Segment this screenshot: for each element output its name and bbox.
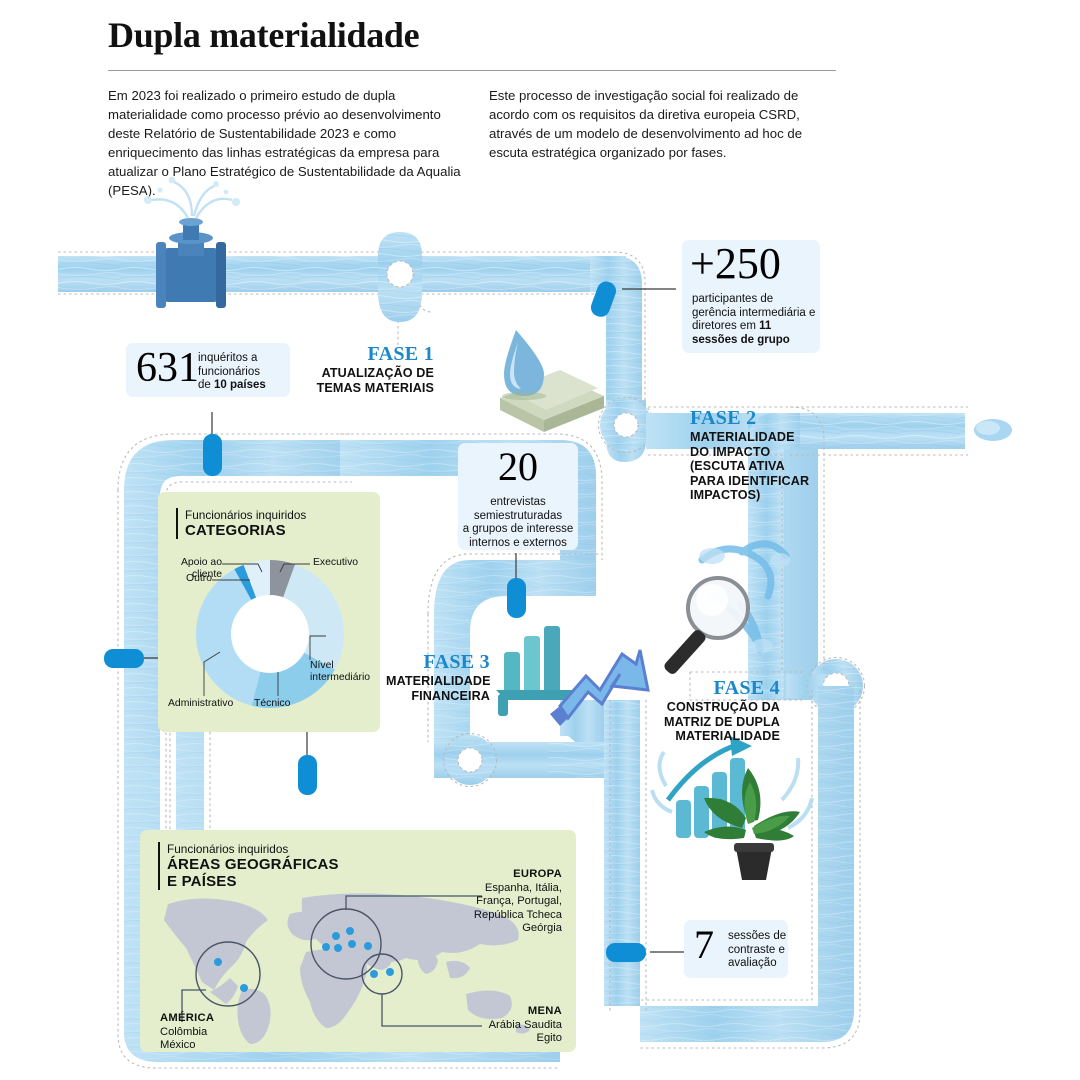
interviews-line-2: semiestruturadas: [460, 510, 576, 524]
region-europa: EUROPA Espanha, Itália, França, Portugal…: [416, 868, 562, 936]
donut-label-outro: Outro: [158, 573, 212, 585]
pipe-valve-icon: [144, 177, 240, 308]
phase-3-subtitle: MATERIALIDADE FINANCEIRA: [386, 674, 490, 703]
region-europa-name: EUROPA: [416, 868, 562, 882]
phase-1-subtitle: ATUALIZAÇÃO DE TEMAS MATERIAIS: [300, 366, 434, 395]
stat-number-20: 20: [458, 449, 578, 486]
stat-number-7: 7: [694, 927, 714, 964]
region-america-countries: Colômbia México: [160, 1026, 280, 1053]
infographic-page: Dupla materialidade Em 2023 foi realizad…: [0, 0, 1080, 1080]
interviews-line-4: internos e externos: [460, 537, 576, 551]
phase-label-2: FASE 2 MATERIALIDADE DO IMPACTO (ESCUTA …: [690, 408, 820, 503]
participants-line-3-bold: 11: [759, 320, 771, 332]
water-drop-icon: [500, 330, 604, 432]
region-mena-countries: Arábia Saudita Egito: [416, 1019, 562, 1046]
stat-number-250: +250: [690, 244, 781, 284]
phase-3-title: FASE 3: [386, 652, 490, 673]
phase-label-1: FASE 1 ATUALIZAÇÃO DE TEMAS MATERIAIS: [300, 344, 434, 395]
stat-line-3-bold: 10 países: [214, 379, 266, 391]
donut-label-executivo: Executivo: [313, 557, 379, 569]
region-america: AMÉRICA Colômbia México: [160, 1012, 280, 1053]
stat-line-3-pre: de: [198, 379, 214, 391]
region-mena: MENA Arábia Saudita Egito: [416, 1005, 562, 1046]
stat-line-1: inquéritos a: [198, 352, 290, 366]
stat-card-participants: +250 participantes de gerência intermedi…: [682, 240, 820, 353]
stat-card-sessions: 7 sessões de contraste e avaliação: [684, 920, 788, 978]
connector-clip-geo: [298, 755, 317, 795]
donut-label-nivel-intermediario: Nível intermediário: [310, 660, 366, 683]
region-america-name: AMÉRICA: [160, 1012, 280, 1026]
sessions-line-3: avaliação: [728, 957, 790, 971]
pipe-elbow-top-right: [590, 256, 642, 412]
connector-clip-631: [203, 434, 222, 476]
phase-label-4: FASE 4 CONSTRUÇÃO DA MATRIZ DE DUPLA MAT…: [650, 678, 780, 744]
sessions-line-1: sessões de: [728, 930, 790, 944]
phase-2-title: FASE 2: [690, 408, 820, 429]
growth-plant-icon: [652, 736, 812, 880]
phase-4-title: FASE 4: [650, 678, 780, 699]
connector-clip-20: [507, 578, 526, 618]
stat-line-2: funcionários: [198, 366, 290, 380]
phase-1-title: FASE 1: [300, 344, 434, 365]
pipe-junction-fase1: [378, 232, 422, 322]
connector-clip-categories: [104, 649, 144, 668]
region-mena-name: MENA: [416, 1005, 562, 1019]
donut-leader-lines: [158, 492, 380, 732]
stat-card-surveys: 631 inquéritos a funcionários de 10 país…: [126, 343, 290, 397]
participants-line-2: gerência intermediária e: [692, 307, 818, 321]
participants-line-3-pre: diretores em: [692, 320, 759, 332]
region-europa-countries: Espanha, Itália, França, Portugal, Repúb…: [416, 882, 562, 936]
stat-number-631: 631: [136, 349, 199, 388]
geography-title-1: ÁREAS GEOGRÁFICAS: [167, 856, 339, 873]
connector-clip-7: [606, 943, 646, 962]
donut-label-administrativo: Administrativo: [168, 698, 248, 710]
pipe-top-main: [58, 256, 626, 292]
phase-label-3: FASE 3 MATERIALIDADE FINANCEIRA: [386, 652, 490, 703]
participants-line-1: participantes de: [692, 293, 818, 307]
geography-heading: Funcionários inquiridos ÁREAS GEOGRÁFICA…: [158, 842, 339, 890]
interviews-line-3: a grupos de interesse: [460, 523, 576, 537]
donut-label-tecnico: Técnico: [254, 698, 310, 710]
geography-eyebrow: Funcionários inquiridos: [167, 842, 339, 856]
water-droplet-icon: [974, 419, 1012, 441]
sessions-line-2: contraste e: [728, 944, 790, 958]
interviews-line-1: entrevistas: [460, 496, 576, 510]
geography-panel: Funcionários inquiridos ÁREAS GEOGRÁFICA…: [140, 830, 576, 1052]
categories-panel: Funcionários inquiridos CATEGORIAS Apoio…: [158, 492, 380, 732]
phase-2-subtitle: MATERIALIDADE DO IMPACTO (ESCUTA ATIVA P…: [690, 430, 820, 503]
phase-4-subtitle: CONSTRUÇÃO DA MATRIZ DE DUPLA MATERIALID…: [650, 700, 780, 744]
participants-line-4-bold: sessões de grupo: [692, 334, 790, 346]
stat-card-interviews: 20 entrevistas semiestruturadas a grupos…: [458, 443, 578, 550]
